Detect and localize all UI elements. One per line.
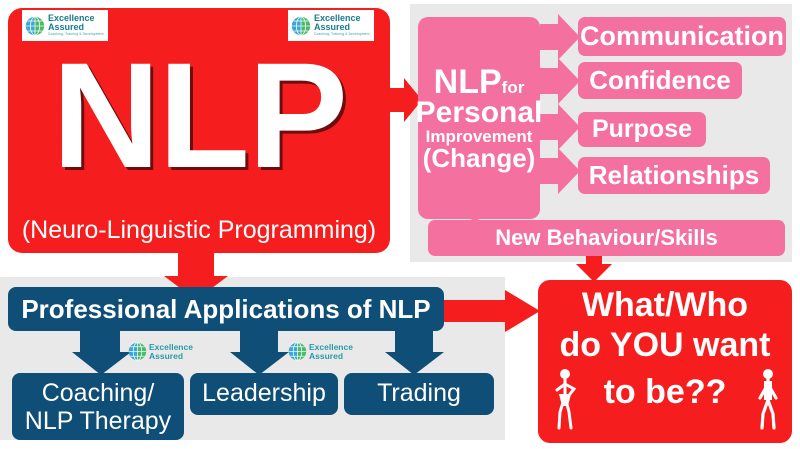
brand-tagline: Coaching, Training & Development [48,33,104,36]
brand-name-line2: Assured [48,23,104,32]
globe-icon [291,16,311,36]
brand-logo-bottom-2: Excellence Assured [288,342,353,361]
personal-line4: (Change) [423,145,536,172]
male-figure-icon [756,368,780,430]
page-title: NLP [8,40,390,190]
application-coaching-nlp-therapy: Coaching/ NLP Therapy [12,373,184,440]
brand-logo-top-left: Excellence Assured Coaching, Training & … [22,10,108,41]
outcome-purpose: Purpose [578,112,706,147]
question-line1: What/Who [538,288,792,323]
application-coaching-line2: NLP Therapy [25,407,171,435]
personal-line2: Personal [416,98,543,129]
application-trading: Trading [344,373,494,415]
nlp-infographic: NLP (Neuro-Linguistic Programming) Excel… [0,0,800,449]
personal-line1-small: for [502,78,525,97]
globe-icon [128,342,147,361]
application-coaching-line1: Coaching/ [42,379,155,407]
outcome-confidence: Confidence [578,62,742,99]
female-figure-icon [554,368,578,430]
hero-subtitle: (Neuro-Linguistic Programming) [8,218,390,244]
globe-icon [288,342,307,361]
outcome-relationships: Relationships [578,157,770,194]
brand-tagline: Coaching, Training & Development [314,33,370,36]
what-who-question-box: What/Who do YOU want to be?? [538,280,792,443]
brand-name-line2: Assured [309,352,353,361]
brand-logo-bottom-1: Excellence Assured [128,342,193,361]
personal-line1: NLPfor [434,65,525,100]
outcome-communication: Communication [578,17,786,56]
nlp-hero-box: NLP (Neuro-Linguistic Programming) [8,8,390,253]
brand-name-line2: Assured [149,352,193,361]
brand-logo-top-right: Excellence Assured Coaching, Training & … [288,10,374,41]
application-leadership: Leadership [190,373,338,415]
nlp-personal-improvement-box: NLPfor Personal Improvement (Change) [418,17,540,219]
globe-icon [25,16,45,36]
question-line2: do YOU want [538,328,792,363]
professional-applications-box: Professional Applications of NLP [8,287,444,331]
brand-name-line2: Assured [314,23,370,32]
new-behaviour-skills-box: New Behaviour/Skills [428,220,785,256]
